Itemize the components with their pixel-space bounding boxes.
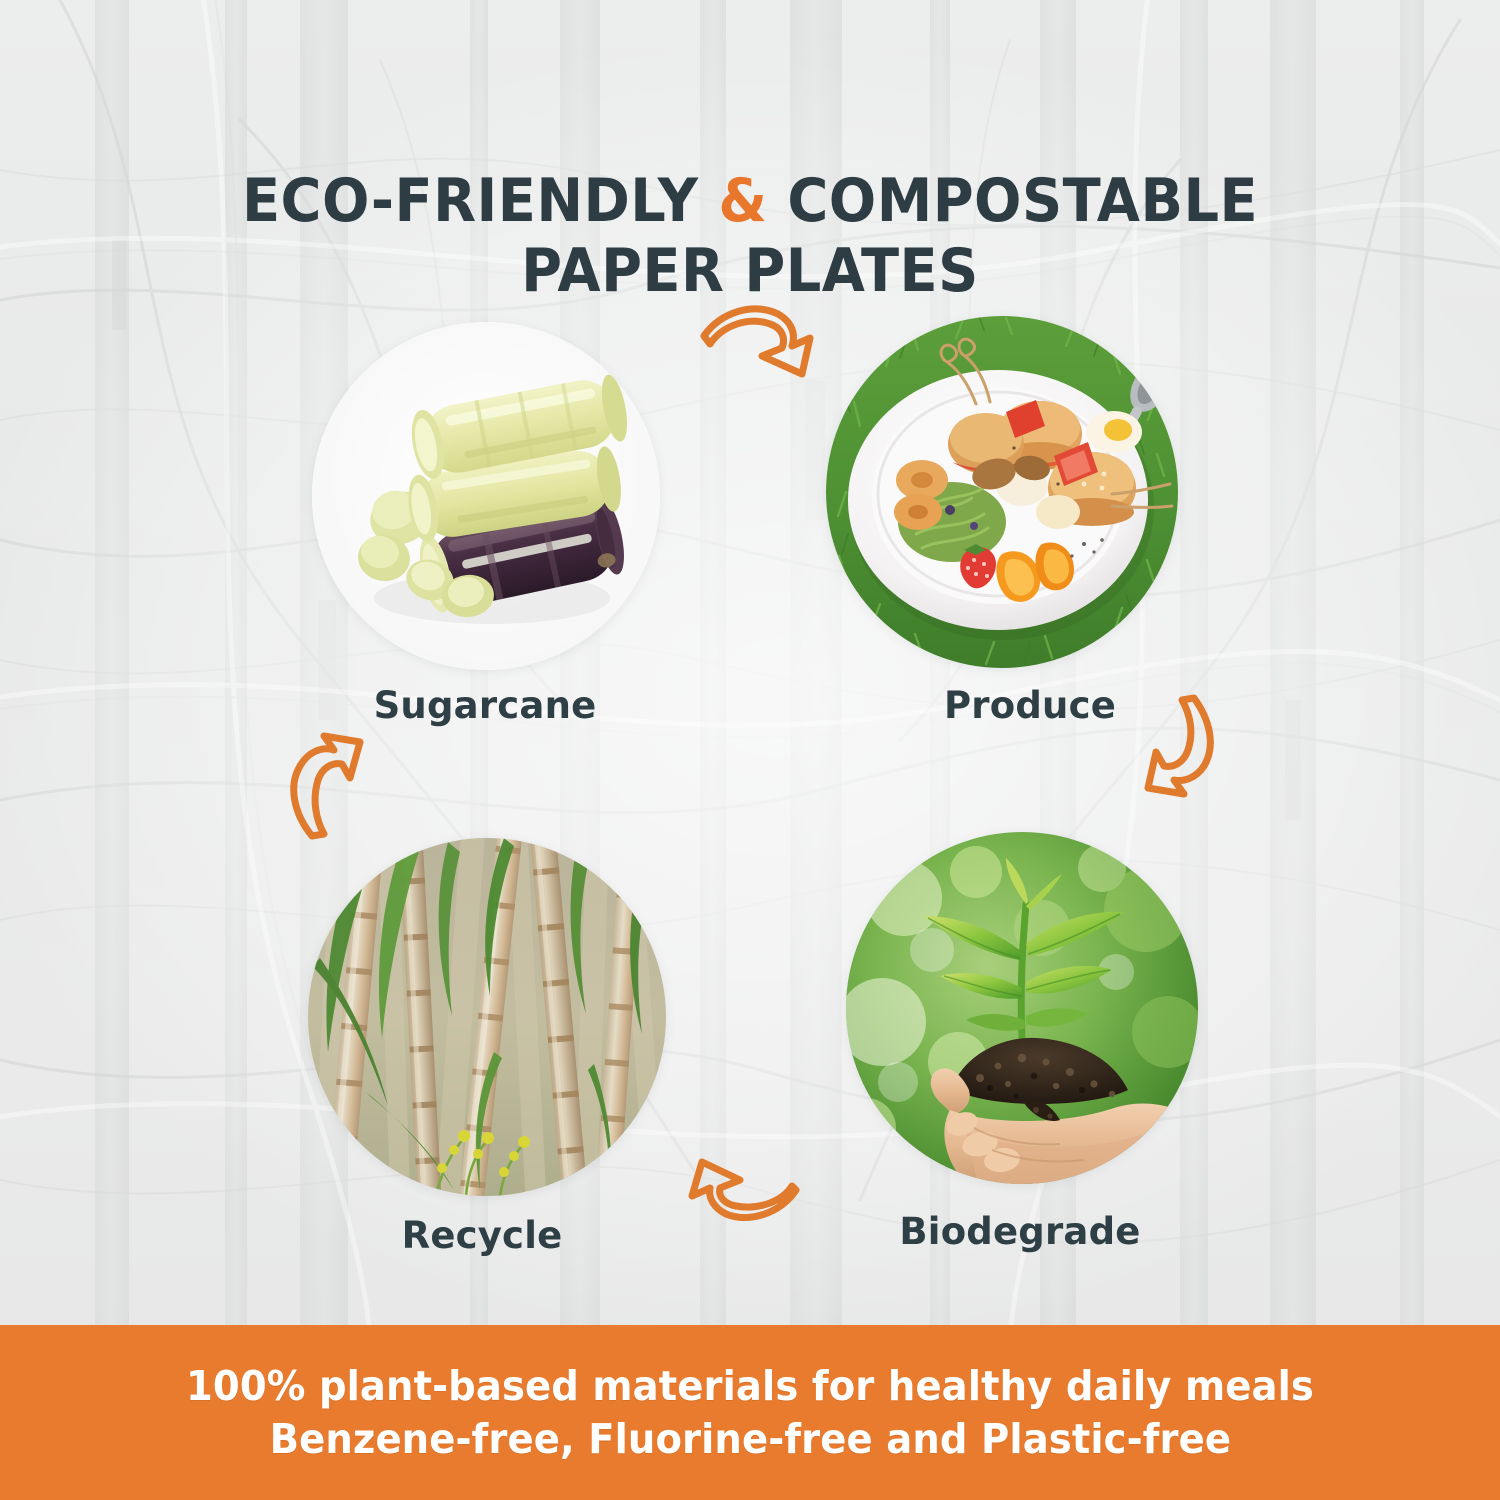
banner-line-1: 100% plant-based materials for healthy d…	[186, 1360, 1314, 1412]
sugarcane-illustration	[312, 322, 660, 670]
bottom-banner: 100% plant-based materials for healthy d…	[0, 1325, 1500, 1500]
curved-arrow-up-right-icon	[258, 732, 374, 844]
title-ampersand: &	[718, 166, 767, 236]
title-line1-prefix: ECO-FRIENDLY	[242, 166, 718, 236]
sugarcane-field-photo	[308, 838, 666, 1196]
paper-plate-of-food-on-grass-photo	[826, 316, 1178, 668]
banner-line-2: Benzene-free, Fluorine-free and Plastic-…	[269, 1413, 1230, 1465]
caption-biodegrade: Biodegrade	[810, 1210, 1230, 1253]
curved-arrow-down-left-icon	[1134, 690, 1250, 802]
infographic-canvas: ECO-FRIENDLY & COMPOSTABLE PAPER PLATES	[0, 0, 1500, 1500]
sugarcane-field-illustration	[308, 838, 666, 1196]
curved-arrow-right-down-icon	[692, 292, 842, 378]
seedling-in-hands-illustration	[846, 832, 1198, 1184]
curved-arrow-left-icon	[672, 1152, 812, 1240]
caption-sugarcane: Sugarcane	[275, 684, 695, 727]
title-line1-suffix: COMPOSTABLE	[767, 166, 1258, 236]
hands-holding-seedling-in-soil-photo	[846, 832, 1198, 1184]
food-plate-illustration	[826, 316, 1178, 668]
caption-recycle: Recycle	[272, 1214, 692, 1257]
sugarcane-stalks-photo	[312, 322, 660, 670]
